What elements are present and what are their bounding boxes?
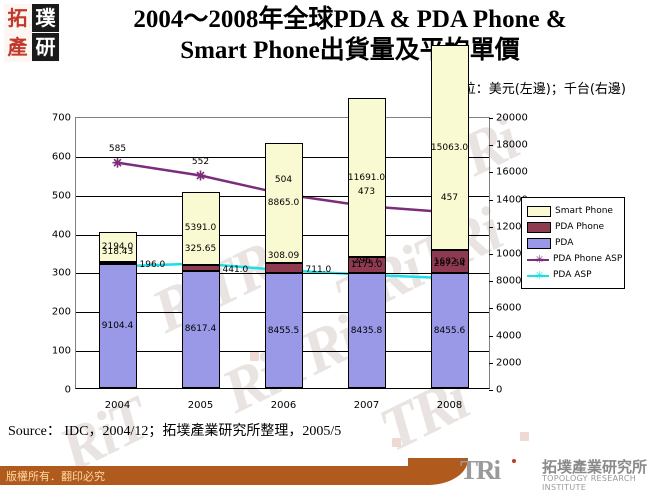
bar-segment-pda[interactable]: 8435.8 [348, 273, 386, 388]
legend-label: PDA [555, 238, 573, 248]
bar-segment-pda-phone[interactable] [182, 265, 220, 271]
bar-segment-pda[interactable]: 9104.4 [99, 264, 137, 388]
logo-char-2-text: 璞 [32, 4, 59, 32]
legend-item-smart-phone[interactable]: Smart Phone [527, 203, 620, 219]
y-axis-tick-mark-right [489, 172, 493, 173]
y-axis-tick-left: 100 [52, 346, 71, 357]
legend-label: Smart Phone [555, 206, 613, 216]
bar-segment-smart-phone[interactable]: 11691.0 [348, 98, 386, 257]
tri-logo: 拓 璞 產 研 [4, 4, 60, 62]
x-axis-tick: 2004 [105, 400, 130, 411]
y-axis-tick-left: 400 [52, 229, 71, 240]
bar-value-label: 9104.4 [102, 321, 134, 331]
asp-value-label: 504 [275, 175, 292, 185]
y-axis-tick-right: 16000 [496, 167, 528, 178]
footer-logo-en: TOPOLOGY RESEARCH INSTITUTE [542, 474, 650, 492]
footer-logo-dot-icon [512, 459, 516, 463]
bar-value-label: 15063.0 [431, 143, 468, 153]
logo-char-2: 璞 [32, 4, 59, 32]
footer-logo: TRi 拓墣產業研究所 TOPOLOGY RESEARCH INSTITUTE [430, 455, 650, 485]
y-axis-tick-mark-right [489, 227, 493, 228]
bar-value-label: 196.0 [140, 260, 166, 270]
legend-label: PDA ASP [553, 270, 592, 280]
legend-line-icon: ✳ [527, 255, 549, 264]
legend-swatch-icon [527, 238, 551, 249]
title-line-2: Smart Phone出貨量及平均單價 [70, 35, 630, 66]
page-title: 2004～2008年全球PDA & PDA Phone & Smart Phon… [70, 4, 630, 66]
y-axis-tick-mark-right [489, 336, 493, 337]
bar-value-label: 5391.0 [185, 223, 217, 233]
y-axis-tick-mark-right [489, 200, 493, 201]
bar-value-label: 8455.6 [434, 326, 466, 336]
legend-swatch-icon [527, 222, 551, 233]
x-axis-tick: 2007 [354, 400, 379, 411]
asp-value-label: 296.7 [354, 256, 380, 266]
source-note: Source： IDC，2004/12；拓墣產業研究所整理，2005/5 [8, 420, 341, 440]
y-axis-tick-mark-right [489, 363, 493, 364]
legend-item-pda-asp[interactable]: ✳PDA ASP [527, 267, 620, 283]
legend-swatch-icon [527, 206, 551, 217]
bar-segment-smart-phone[interactable]: 15063.0 [431, 45, 469, 250]
asp-value-label: 585 [109, 144, 126, 154]
asp-value-label: 325.65 [185, 244, 217, 254]
legend-item-pda-phone[interactable]: PDA Phone [527, 219, 620, 235]
bar-value-label: 8617.4 [185, 324, 217, 334]
legend-label: PDA Phone [555, 222, 604, 232]
y-axis-tick-left: 0 [65, 385, 71, 396]
y-axis-tick-mark-right [489, 308, 493, 309]
asp-value-label: 457 [441, 193, 458, 203]
y-axis-tick-mark-right [489, 145, 493, 146]
bar-value-label: 711.0 [306, 265, 332, 275]
bar-segment-pda[interactable]: 8455.5 [265, 273, 303, 388]
x-axis-tick: 2008 [437, 400, 462, 411]
logo-char-4: 研 [32, 33, 59, 61]
y-axis-tick-left: 700 [52, 113, 71, 124]
legend-line-icon: ✳ [527, 271, 549, 280]
x-axis-tick: 2005 [188, 400, 213, 411]
bar-value-label: 8865.0 [268, 198, 300, 208]
legend-item-pda-phone-asp[interactable]: ✳PDA Phone ASP [527, 251, 620, 267]
asp-value-label: 308.09 [268, 251, 300, 261]
y-axis-tick-right: 18000 [496, 140, 528, 151]
asp-value-label: 552 [192, 157, 209, 167]
bar-segment-pda[interactable]: 8455.6 [431, 273, 469, 388]
y-axis-tick-mark-right [489, 281, 493, 282]
y-axis-tick-left: 300 [52, 268, 71, 279]
unit-note: 單位：美元(左邊)；千台(右邊) [450, 78, 626, 97]
y-axis-tick-right: 4000 [496, 330, 521, 341]
bar-segment-smart-phone[interactable]: 8865.0 [265, 143, 303, 264]
y-axis-tick-left: 500 [52, 190, 71, 201]
bar-segment-pda-phone[interactable] [265, 263, 303, 273]
bar-segment-pda[interactable]: 8617.4 [182, 271, 220, 388]
asp-value-label: 287.54 [434, 259, 466, 269]
y-axis-tick-right: 2000 [496, 357, 521, 368]
y-axis-tick-right: 20000 [496, 113, 528, 124]
logo-char-1: 拓 [4, 4, 31, 32]
legend-item-pda[interactable]: PDA [527, 235, 620, 251]
title-line-1: 2004～2008年全球PDA & PDA Phone & [70, 4, 630, 35]
chart-plot-area: 0100200300400500600700020004000600080001… [75, 117, 490, 389]
asp-marker [113, 158, 123, 168]
asp-value-label: 318.43 [102, 247, 134, 257]
logo-char-3: 產 [4, 33, 31, 61]
y-axis-tick-mark-right [489, 254, 493, 255]
y-axis-tick-mark-right [489, 118, 493, 119]
bar-value-label: 441.0 [223, 265, 249, 275]
y-axis-tick-right: 0 [496, 385, 502, 396]
bar-segment-pda-phone[interactable] [99, 262, 137, 265]
y-axis-tick-left: 600 [52, 151, 71, 162]
asp-marker [196, 171, 206, 181]
bar-value-label: 8435.8 [351, 326, 383, 336]
logo-char-4-text: 研 [32, 33, 59, 61]
chart-legend: Smart PhonePDA PhonePDA✳PDA Phone ASP✳PD… [521, 197, 625, 289]
bar-value-label: 8455.5 [268, 326, 300, 336]
legend-label: PDA Phone ASP [553, 254, 622, 264]
footer-logo-mark: TRi [460, 455, 499, 486]
copyright-text: 版權所有．翻印必究 [6, 468, 105, 484]
y-axis-tick-mark-right [489, 390, 493, 391]
logo-char-3-text: 產 [4, 33, 31, 61]
y-axis-tick-left: 200 [52, 307, 71, 318]
logo-char-1-text: 拓 [4, 4, 31, 32]
y-axis-tick-right: 8000 [496, 276, 521, 287]
y-axis-tick-right: 6000 [496, 303, 521, 314]
x-axis-tick: 2006 [271, 400, 296, 411]
bar-value-label: 11691.0 [348, 173, 385, 183]
asp-value-label: 473 [358, 187, 375, 197]
